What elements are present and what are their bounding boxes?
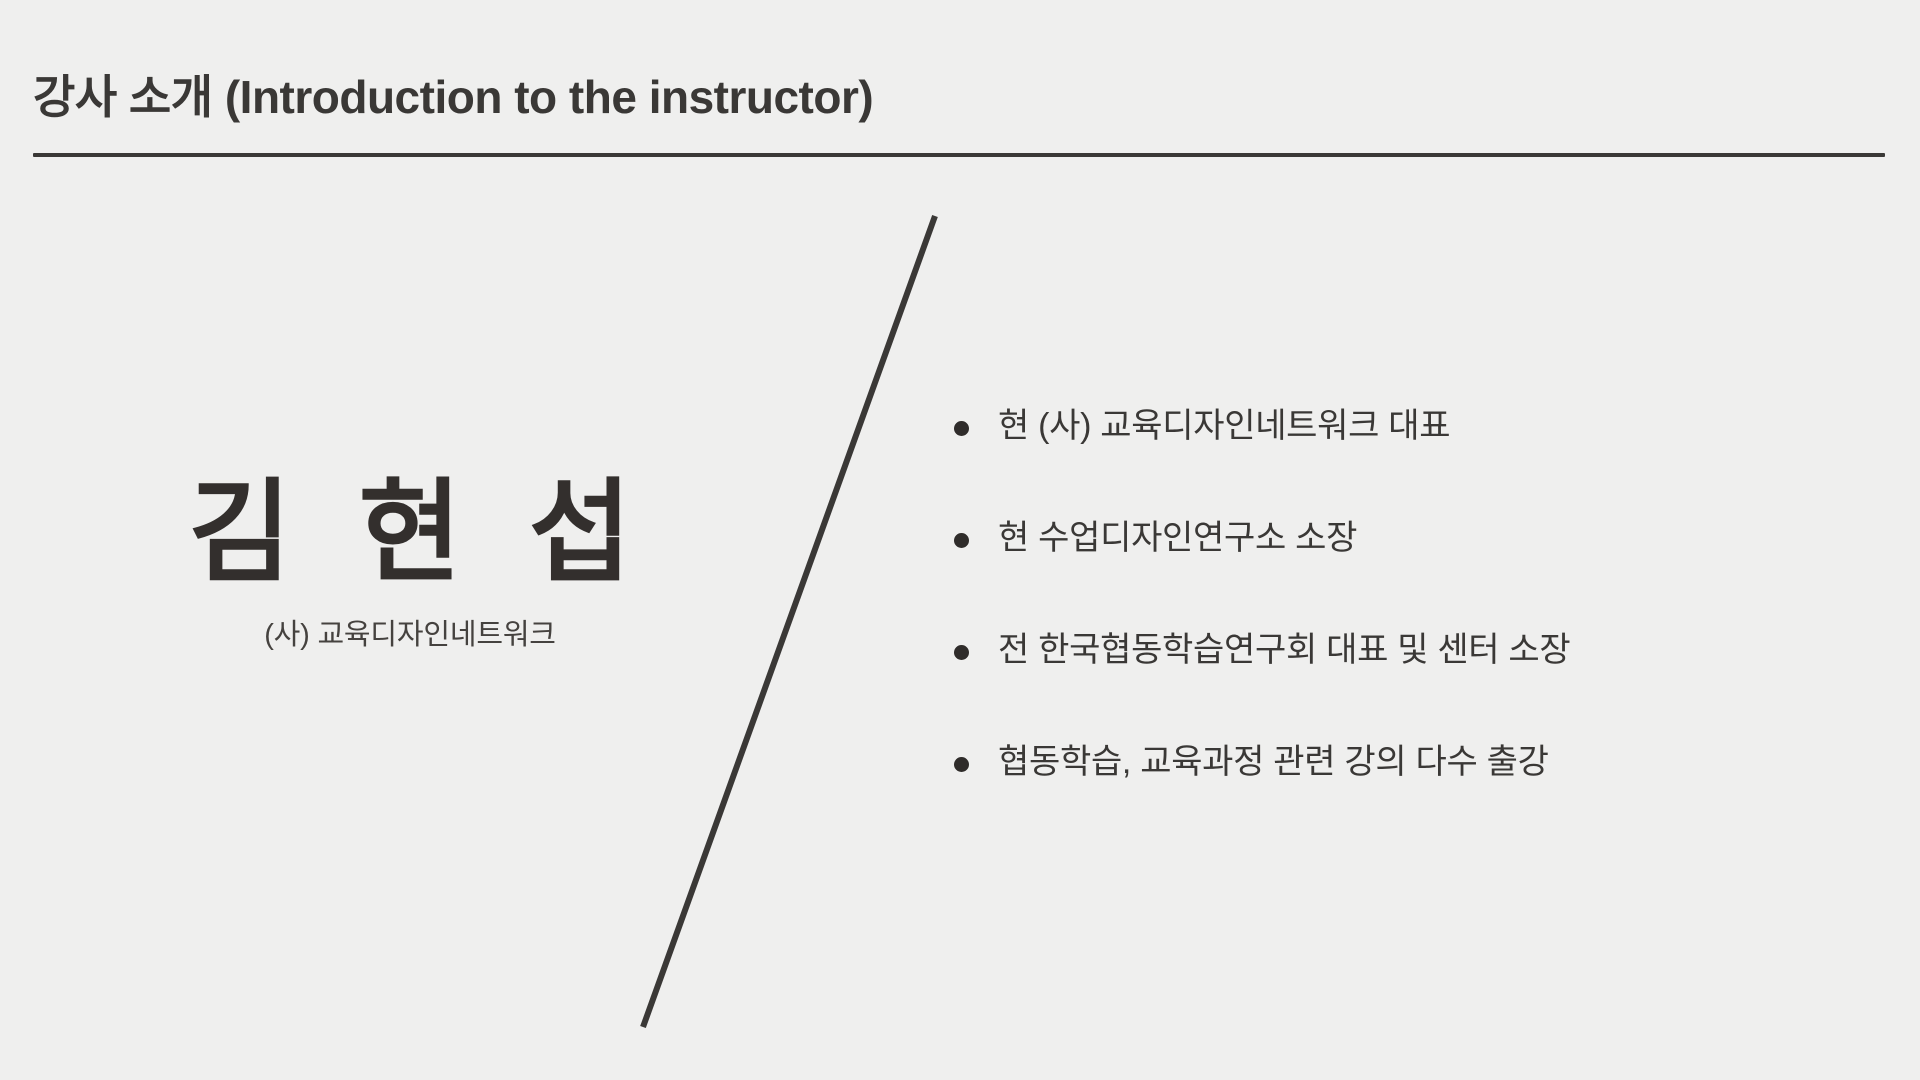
list-item: 전 한국협동학습연구회 대표 및 센터 소장 <box>946 628 1876 673</box>
bullet-dot-icon <box>954 645 969 660</box>
title-divider-rule <box>33 153 1885 157</box>
instructor-name-block: 김 현 섭 (사) 교육디자인네트워크 <box>105 470 715 655</box>
bullet-dot-icon <box>954 757 969 772</box>
credential-text: 현 (사) 교육디자인네트워크 대표 <box>998 407 1450 445</box>
credential-text: 현 수업디자인연구소 소장 <box>998 519 1357 557</box>
list-item: 현 (사) 교육디자인네트워크 대표 <box>946 404 1876 449</box>
list-item: 현 수업디자인연구소 소장 <box>946 516 1876 561</box>
bullet-dot-icon <box>954 421 969 436</box>
credential-text: 협동학습, 교육과정 관련 강의 다수 출강 <box>998 743 1549 781</box>
instructor-affiliation: (사) 교육디자인네트워크 <box>105 617 715 655</box>
list-item: 협동학습, 교육과정 관련 강의 다수 출강 <box>946 740 1876 785</box>
bullet-dot-icon <box>954 533 969 548</box>
instructor-name: 김 현 섭 <box>105 470 715 595</box>
slide-root: 강사 소개 (Introduction to the instructor) 김… <box>0 0 1920 1080</box>
credential-text: 전 한국협동학습연구회 대표 및 센터 소장 <box>998 631 1570 669</box>
credentials-list: 현 (사) 교육디자인네트워크 대표 현 수업디자인연구소 소장 전 한국협동학… <box>946 404 1876 785</box>
page-title: 강사 소개 (Introduction to the instructor) <box>33 69 873 127</box>
